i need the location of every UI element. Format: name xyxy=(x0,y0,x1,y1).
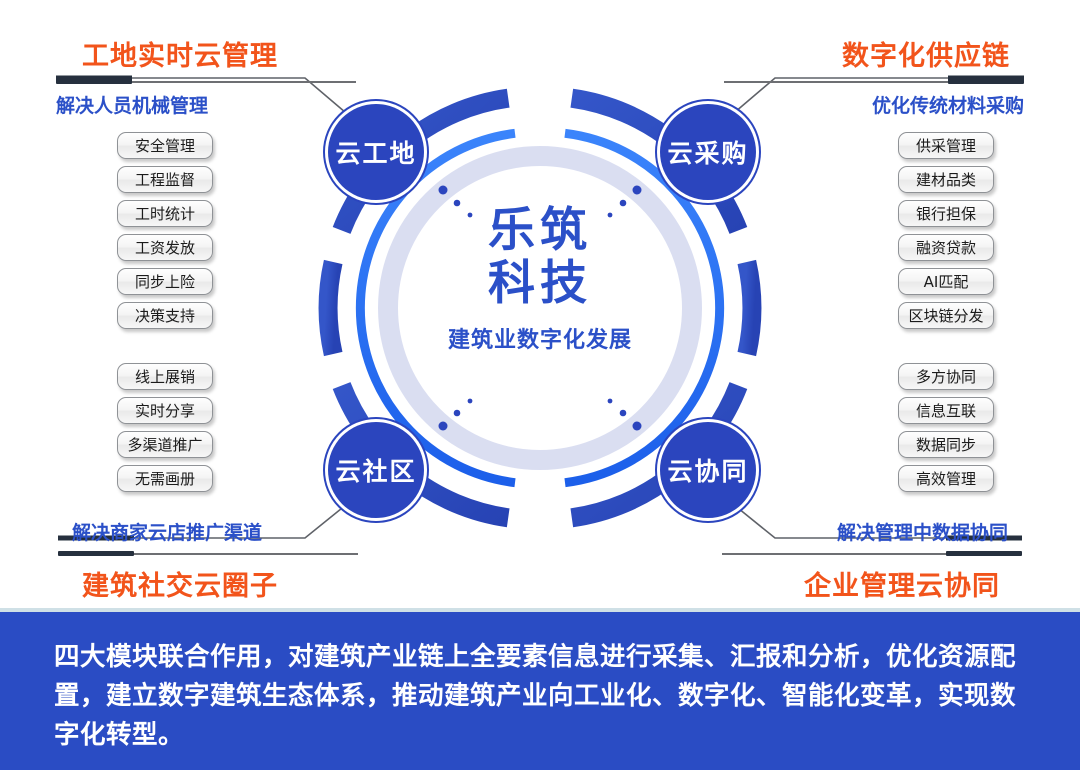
quadrant-top-left-title: 工地实时云管理 xyxy=(56,34,356,73)
tag-item[interactable]: 无需画册 xyxy=(117,465,213,492)
quadrant-bottom-right: 解决管理中数据协同 企业管理云协同 xyxy=(722,518,1022,603)
tag-item[interactable]: 建材品类 xyxy=(898,166,994,193)
tag-item[interactable]: AI匹配 xyxy=(898,268,994,295)
tag-item[interactable]: 多方协同 xyxy=(898,363,994,390)
tag-item[interactable]: 供采管理 xyxy=(898,132,994,159)
quadrant-top-right-title: 数字化供应链 xyxy=(724,34,1024,73)
quadrant-bottom-right-rule xyxy=(722,551,1022,556)
tag-item[interactable]: 融资贷款 xyxy=(898,234,994,261)
tag-item[interactable]: 线上展销 xyxy=(117,363,213,390)
node-cloud-site[interactable]: 云工地 xyxy=(328,104,424,200)
tag-item[interactable]: 数据同步 xyxy=(898,431,994,458)
quadrant-top-left: 工地实时云管理 解决人员机械管理 xyxy=(56,34,356,118)
tag-item[interactable]: 实时分享 xyxy=(117,397,213,424)
tag-item[interactable]: 高效管理 xyxy=(898,465,994,492)
summary-banner: 四大模块联合作用，对建筑产业链上全要素信息进行采集、汇报和分析，优化资源配置，建… xyxy=(0,612,1080,770)
tag-list-bottom-left: 线上展销 实时分享 多渠道推广 无需画册 xyxy=(117,363,213,492)
infographic-stage: 乐筑 科技 建筑业数字化发展 云工地 云采购 云社区 云协同 工地实时云管理 解… xyxy=(0,0,1080,608)
quadrant-bottom-left-title: 建筑社交云圈子 xyxy=(58,564,358,603)
quadrant-bottom-right-subtitle: 解决管理中数据协同 xyxy=(722,518,1022,545)
quadrant-top-left-rule xyxy=(56,79,356,84)
tag-item[interactable]: 工程监督 xyxy=(117,166,213,193)
summary-banner-text: 四大模块联合作用，对建筑产业链上全要素信息进行采集、汇报和分析，优化资源配置，建… xyxy=(54,638,1026,754)
tag-item[interactable]: 工时统计 xyxy=(117,200,213,227)
tag-list-bottom-right: 多方协同 信息互联 数据同步 高效管理 xyxy=(898,363,994,492)
quadrant-bottom-left: 解决商家云店推广渠道 建筑社交云圈子 xyxy=(58,518,358,603)
tag-item[interactable]: 信息互联 xyxy=(898,397,994,424)
tag-list-top-right: 供采管理 建材品类 银行担保 融资贷款 AI匹配 区块链分发 xyxy=(898,132,994,329)
node-cloud-collaboration[interactable]: 云协同 xyxy=(660,422,756,518)
tag-item[interactable]: 同步上险 xyxy=(117,268,213,295)
tag-item[interactable]: 区块链分发 xyxy=(898,302,994,329)
quadrant-bottom-left-rule xyxy=(58,551,358,556)
tag-list-top-left: 安全管理 工程监督 工时统计 工资发放 同步上险 决策支持 xyxy=(117,132,213,329)
quadrant-top-right-rule xyxy=(724,79,1024,84)
quadrant-bottom-right-title: 企业管理云协同 xyxy=(722,564,1022,603)
tag-item[interactable]: 多渠道推广 xyxy=(117,431,213,458)
tag-item[interactable]: 银行担保 xyxy=(898,200,994,227)
quadrant-top-right-subtitle: 优化传统材料采购 xyxy=(724,91,1024,118)
tag-item[interactable]: 工资发放 xyxy=(117,234,213,261)
tag-item[interactable]: 安全管理 xyxy=(117,132,213,159)
tag-item[interactable]: 决策支持 xyxy=(117,302,213,329)
quadrant-top-left-subtitle: 解决人员机械管理 xyxy=(56,91,356,118)
node-cloud-community[interactable]: 云社区 xyxy=(328,422,424,518)
node-cloud-purchase[interactable]: 云采购 xyxy=(660,104,756,200)
quadrant-bottom-left-subtitle: 解决商家云店推广渠道 xyxy=(58,518,358,545)
quadrant-top-right: 数字化供应链 优化传统材料采购 xyxy=(724,34,1024,118)
